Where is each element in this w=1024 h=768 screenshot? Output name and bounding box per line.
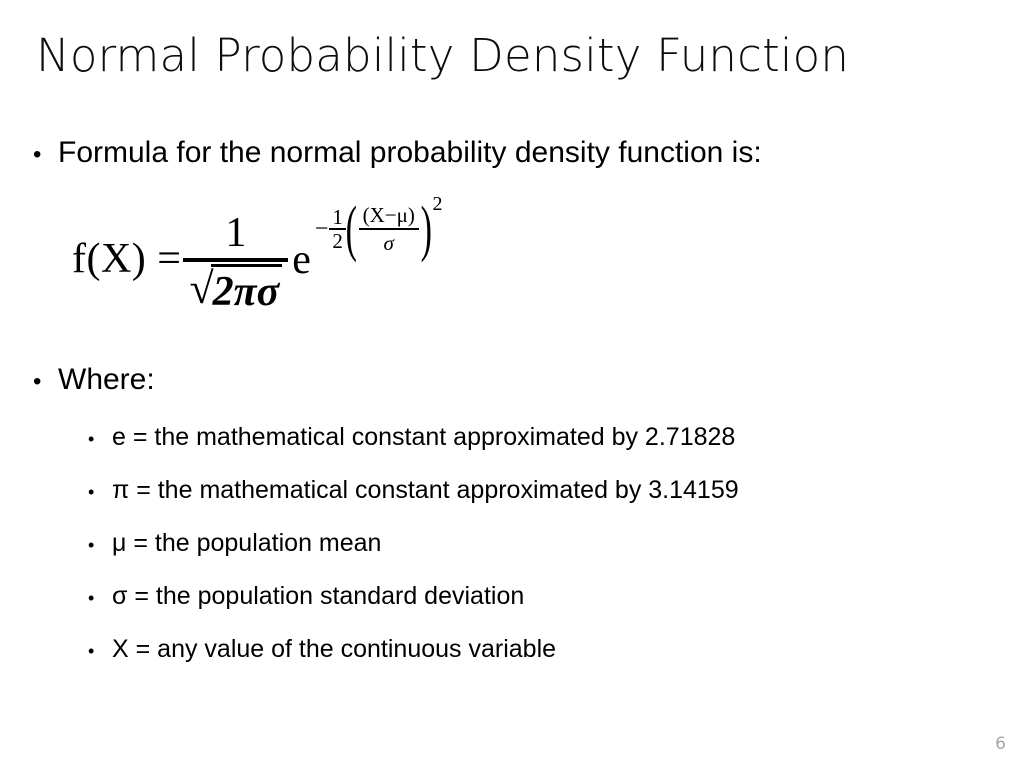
one-half-numerator: 1 (329, 206, 346, 228)
definition-text: X = any value of the continuous variable (112, 633, 556, 665)
bullet-marker-icon: • (88, 529, 112, 561)
fraction-denominator: √ 2πσ (183, 262, 288, 316)
definition-item-x: • X = any value of the continuous variab… (88, 633, 556, 667)
equation-base-e: e (292, 239, 311, 283)
one-half-denominator: 2 (329, 230, 346, 253)
bullet-marker-icon: • (88, 423, 112, 455)
bullet-marker-icon: • (33, 136, 58, 174)
radicand: 2πσ (211, 264, 283, 316)
definition-text: e = the mathematical constant approximat… (112, 421, 735, 453)
bullet-formula-intro: • Formula for the normal probability den… (33, 134, 762, 174)
equation-main-fraction: 1 √ 2πσ (183, 210, 288, 316)
bullet-text: Formula for the normal probability densi… (58, 134, 762, 172)
definition-item-e: • e = the mathematical constant approxim… (88, 421, 735, 455)
exponent-minus-sign: − (315, 217, 330, 241)
definition-item-sigma: • σ = the population standard deviation (88, 580, 524, 614)
bullet-marker-icon: • (88, 476, 112, 508)
bullet-marker-icon: • (33, 363, 58, 401)
definition-item-pi: • π = the mathematical constant approxim… (88, 474, 739, 508)
definition-text: μ = the population mean (112, 527, 381, 559)
paren-close: ) (420, 200, 431, 258)
equation-exponent: − 1 2 ( (X−μ) σ ) 2 (315, 200, 442, 258)
definition-item-mu: • μ = the population mean (88, 527, 381, 561)
bullet-marker-icon: • (88, 635, 112, 667)
z-denominator: σ (380, 230, 398, 255)
z-score-fraction: (X−μ) σ (357, 204, 421, 255)
slide-page-number: 6 (995, 734, 1006, 754)
definition-text: π = the mathematical constant approximat… (112, 474, 739, 506)
bullet-where: • Where: (33, 361, 155, 401)
exponent-one-half: 1 2 (329, 206, 346, 253)
slide-canvas: Normal Probability Density Function • Fo… (0, 0, 1024, 768)
equation-lhs: f(X) = (72, 238, 181, 284)
z-numerator: (X−μ) (359, 204, 419, 228)
fraction-numerator: 1 (199, 210, 272, 258)
normal-pdf-equation: f(X) = 1 √ 2πσ e − 1 2 ( (X−μ) (72, 196, 442, 326)
page-title: Normal Probability Density Function (36, 28, 986, 84)
exponent-power-two: 2 (433, 194, 443, 214)
square-root-group: √ 2πσ (189, 264, 282, 316)
bullet-text: Where: (58, 361, 155, 399)
definition-text: σ = the population standard deviation (112, 580, 524, 612)
bullet-marker-icon: • (88, 582, 112, 614)
paren-open: ( (346, 200, 357, 258)
